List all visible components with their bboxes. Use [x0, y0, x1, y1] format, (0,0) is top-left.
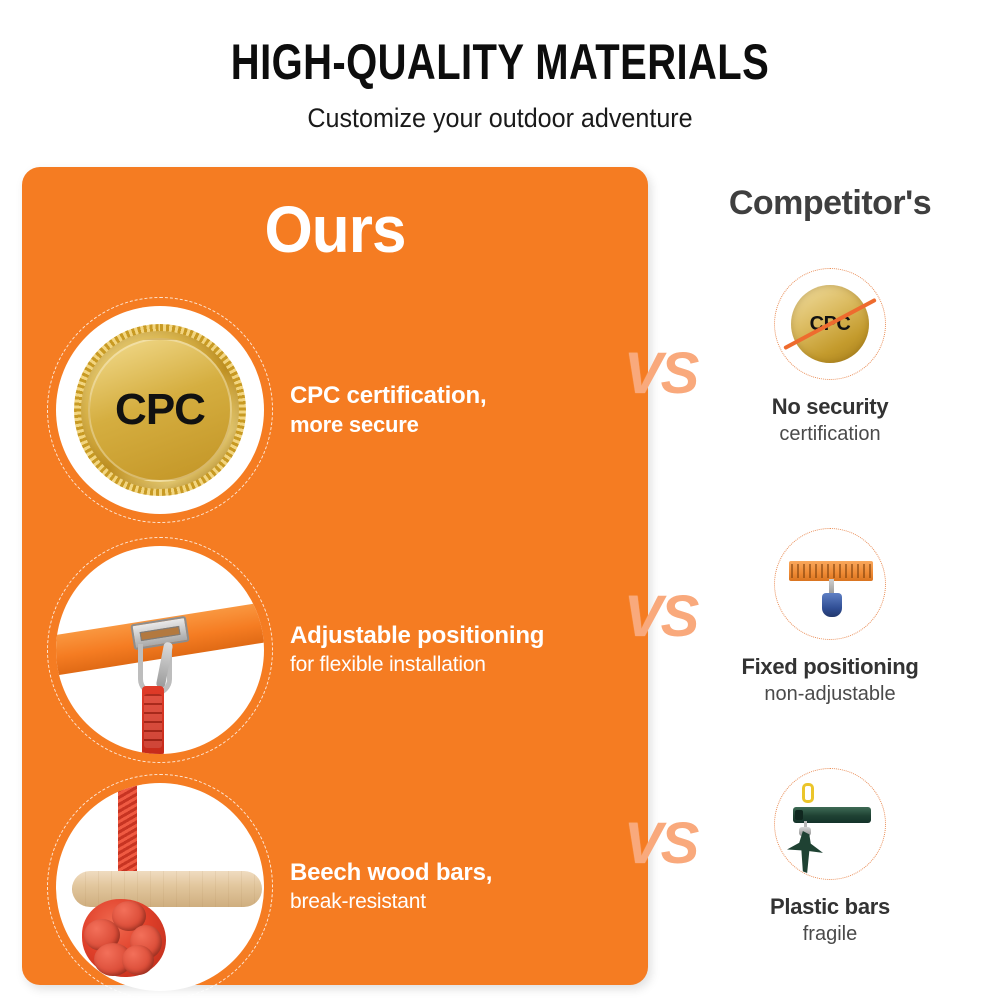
ours-feature-row: CPC CPC certification, more secure — [22, 295, 648, 525]
medal-label: CPC — [74, 324, 246, 496]
plastic-bar-hook-icon — [774, 768, 886, 880]
ours-feature-title: Adjustable positioning — [290, 621, 544, 652]
ours-feature-subtitle: more secure — [290, 411, 486, 439]
buckle-slot — [140, 626, 181, 641]
ours-feature-subtitle: break-resistant — [290, 889, 492, 916]
crossed-out-cpc-badge-icon: CPC — [774, 268, 886, 380]
orange-strap-icon — [789, 561, 873, 581]
ours-feature-row: Adjustable positioning for flexible inst… — [22, 535, 648, 765]
photo-circle — [56, 783, 264, 991]
rope-knot-icon — [82, 899, 166, 977]
ours-feature-text: Beech wood bars, break-resistant — [290, 858, 492, 916]
beech-wood-bar-icon — [72, 871, 262, 907]
fixed-strap-carabiner-icon — [774, 528, 886, 640]
vs-badge: VS — [624, 340, 697, 407]
competitor-item-subtitle: certification — [660, 423, 1000, 446]
red-rope-icon — [142, 686, 164, 754]
competitor-item-title: Fixed positioning — [660, 654, 1000, 680]
ours-feature-text: Adjustable positioning for flexible inst… — [290, 621, 544, 679]
ours-heading: Ours — [41, 191, 629, 267]
competitor-item-title: No security — [660, 394, 1000, 420]
page-title: HIGH-QUALITY MATERIALS — [100, 36, 900, 89]
competitor-heading: Competitor's — [660, 184, 1000, 223]
page-subtitle: Customize your outdoor adventure — [35, 103, 965, 134]
ours-feature-title: Beech wood bars, — [290, 858, 492, 889]
ours-feature-subtitle: for flexible installation — [290, 652, 544, 679]
ours-feature-title: CPC certification, — [290, 381, 486, 412]
red-rope-icon — [118, 783, 137, 883]
beech-wood-bar-rope-photo — [56, 783, 264, 991]
blue-carabiner-icon — [822, 593, 842, 617]
yellow-clip-icon — [802, 783, 814, 803]
page-header: HIGH-QUALITY MATERIALS Customize your ou… — [0, 0, 1000, 134]
photo-circle: CPC — [56, 306, 264, 514]
ours-feature-row: Beech wood bars, break-resistant — [22, 772, 648, 1002]
competitor-item-title: Plastic bars — [660, 894, 1000, 920]
competitor-item: CPC No security certification — [660, 268, 1000, 446]
competitor-item-subtitle: fragile — [660, 923, 1000, 946]
vs-badge: VS — [624, 583, 697, 650]
ours-feature-text: CPC certification, more secure — [290, 381, 486, 440]
photo-circle — [56, 546, 264, 754]
adjustable-strap-carabiner-photo — [56, 546, 264, 754]
ours-panel: Ours CPC CPC certification, more secure — [22, 167, 648, 985]
competitor-item: Fixed positioning non-adjustable — [660, 528, 1000, 706]
gold-medal-icon: CPC — [74, 324, 246, 496]
competitor-item-subtitle: non-adjustable — [660, 683, 1000, 706]
green-anchor-hook-icon — [787, 831, 823, 873]
vs-badge: VS — [624, 810, 697, 877]
cpc-gold-badge-photo: CPC — [56, 306, 264, 514]
competitor-item: Plastic bars fragile — [660, 768, 1000, 946]
